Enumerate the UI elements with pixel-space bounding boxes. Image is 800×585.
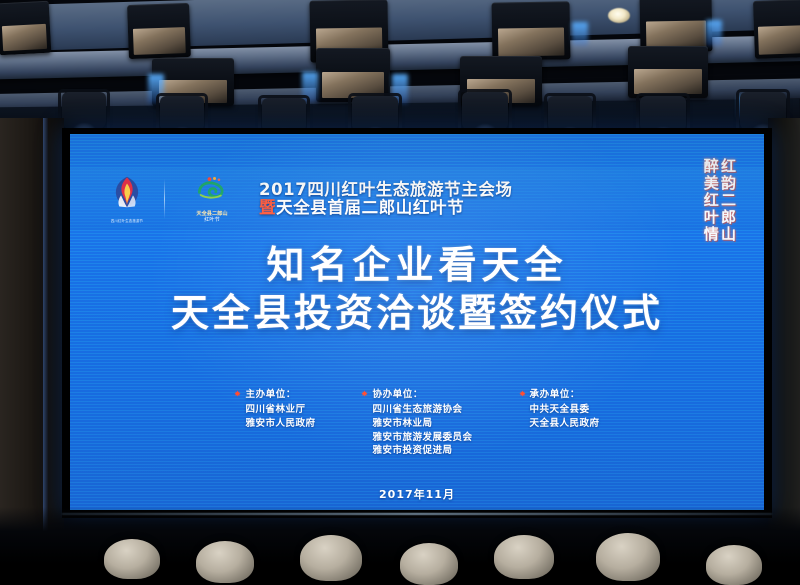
sponsor-item: 雅安市人民政府 bbox=[245, 417, 315, 431]
sichuan-tourism-emblem-icon: 四川红叶生态旅游节 bbox=[106, 175, 148, 223]
ceiling-downlight bbox=[608, 8, 630, 23]
erlangshan-maple-festival-logo-icon: 天全县二郎山 红叶节 bbox=[183, 174, 241, 224]
par-fixture bbox=[640, 0, 713, 53]
sponsor-item: 天全县人民政府 bbox=[530, 417, 600, 431]
screen-header-banner: 四川红叶生态旅游节 天全县二郎山 红叶节 bbox=[70, 168, 764, 230]
light-beam-glow bbox=[706, 20, 722, 46]
sponsor-item: 雅安市旅游发展委员会 bbox=[372, 431, 472, 445]
header-title-line2-rest: 天全县首届二郎山红叶节 bbox=[276, 198, 464, 217]
par-fixture bbox=[491, 1, 570, 60]
sponsor-list: 四川省生态旅游协会 雅安市林业局 雅安市旅游发展委员会 雅安市投资促进局 bbox=[361, 403, 472, 458]
sponsor-column-host: 承办单位： 中共天全县委 天全县人民政府 bbox=[519, 386, 600, 431]
screen-header-titles: 2017四川红叶生态旅游节主会场 暨天全县首届二郎山红叶节 bbox=[259, 181, 513, 218]
maple-leaf-icon bbox=[361, 390, 368, 397]
main-title-line2: 天全县投资洽谈暨签约仪式 bbox=[70, 290, 764, 338]
audience-head bbox=[706, 545, 762, 585]
maple-leaf-icon bbox=[234, 390, 241, 397]
sponsor-columns: 主办单位： 四川省林业厅 雅安市人民政府 协办单位： bbox=[70, 386, 764, 458]
wall-left bbox=[0, 118, 64, 565]
main-title-line1: 知名企业看天全 bbox=[70, 242, 764, 290]
emblem-flame-shape bbox=[110, 175, 144, 209]
audience-head bbox=[596, 533, 660, 581]
sponsor-list: 四川省林业厅 雅安市人民政府 bbox=[234, 403, 315, 431]
stage-scene: 四川红叶生态旅游节 天全县二郎山 红叶节 bbox=[0, 0, 800, 565]
maple-leaf-icon bbox=[519, 390, 526, 397]
sponsor-column-coorganizer: 协办单位： 四川省生态旅游协会 雅安市林业局 雅安市旅游发展委员会 雅安市投资促… bbox=[361, 386, 472, 458]
emblem-caption: 四川红叶生态旅游节 bbox=[104, 218, 150, 223]
led-screen-frame: 四川红叶生态旅游节 天全县二郎山 红叶节 bbox=[62, 128, 772, 518]
audience-head bbox=[400, 543, 458, 585]
main-title: 知名企业看天全 天全县投资洽谈暨签约仪式 bbox=[70, 242, 764, 337]
sponsor-heading-label: 主办单位： bbox=[245, 386, 296, 400]
sponsor-item: 四川省生态旅游协会 bbox=[372, 403, 472, 417]
sponsor-item: 中共天全县委 bbox=[530, 403, 600, 417]
logo-divider bbox=[164, 179, 165, 219]
wall-right bbox=[768, 118, 800, 565]
light-beam-glow bbox=[572, 22, 588, 46]
par-fixture bbox=[753, 0, 800, 59]
sponsor-heading: 承办单位： bbox=[519, 386, 600, 400]
header-title-line2: 暨天全县首届二郎山红叶节 bbox=[259, 199, 513, 217]
audience-head bbox=[196, 541, 254, 583]
header-title-line1: 2017四川红叶生态旅游节主会场 bbox=[259, 181, 513, 199]
event-date: 2017年11月 bbox=[70, 486, 764, 502]
sponsor-column-organizer: 主办单位： 四川省林业厅 雅安市人民政府 bbox=[234, 386, 315, 431]
calligraphy-line1: 红韵二郎山 bbox=[719, 158, 736, 243]
sponsor-heading-label: 承办单位： bbox=[530, 386, 581, 400]
header-title-line2-first: 暨 bbox=[259, 198, 276, 217]
sponsor-heading-label: 协办单位： bbox=[372, 386, 423, 400]
sponsor-item: 雅安市投资促进局 bbox=[372, 444, 472, 458]
leaf-swirl-shape bbox=[193, 176, 231, 200]
audience-head bbox=[104, 539, 160, 579]
sponsor-heading: 主办单位： bbox=[234, 386, 315, 400]
festival-logo-caption: 天全县二郎山 红叶节 bbox=[183, 211, 241, 223]
calligraphy-line2: 醉美红叶情 bbox=[702, 158, 719, 243]
sponsor-item: 四川省林业厅 bbox=[245, 403, 315, 417]
par-fixture bbox=[127, 3, 191, 59]
par-fixture bbox=[0, 1, 51, 56]
audience-head bbox=[494, 535, 554, 579]
sponsor-list: 中共天全县委 天全县人民政府 bbox=[519, 403, 600, 431]
sponsor-item: 雅安市林业局 bbox=[372, 417, 472, 431]
vertical-calligraphy: 红韵二郎山 醉美红叶情 bbox=[702, 158, 737, 243]
par-fixture bbox=[628, 46, 708, 98]
audience-head bbox=[300, 535, 362, 581]
audience-heads-foreground bbox=[0, 507, 800, 565]
led-screen: 四川红叶生态旅游节 天全县二郎山 红叶节 bbox=[70, 134, 764, 510]
sponsor-heading: 协办单位： bbox=[361, 386, 472, 400]
